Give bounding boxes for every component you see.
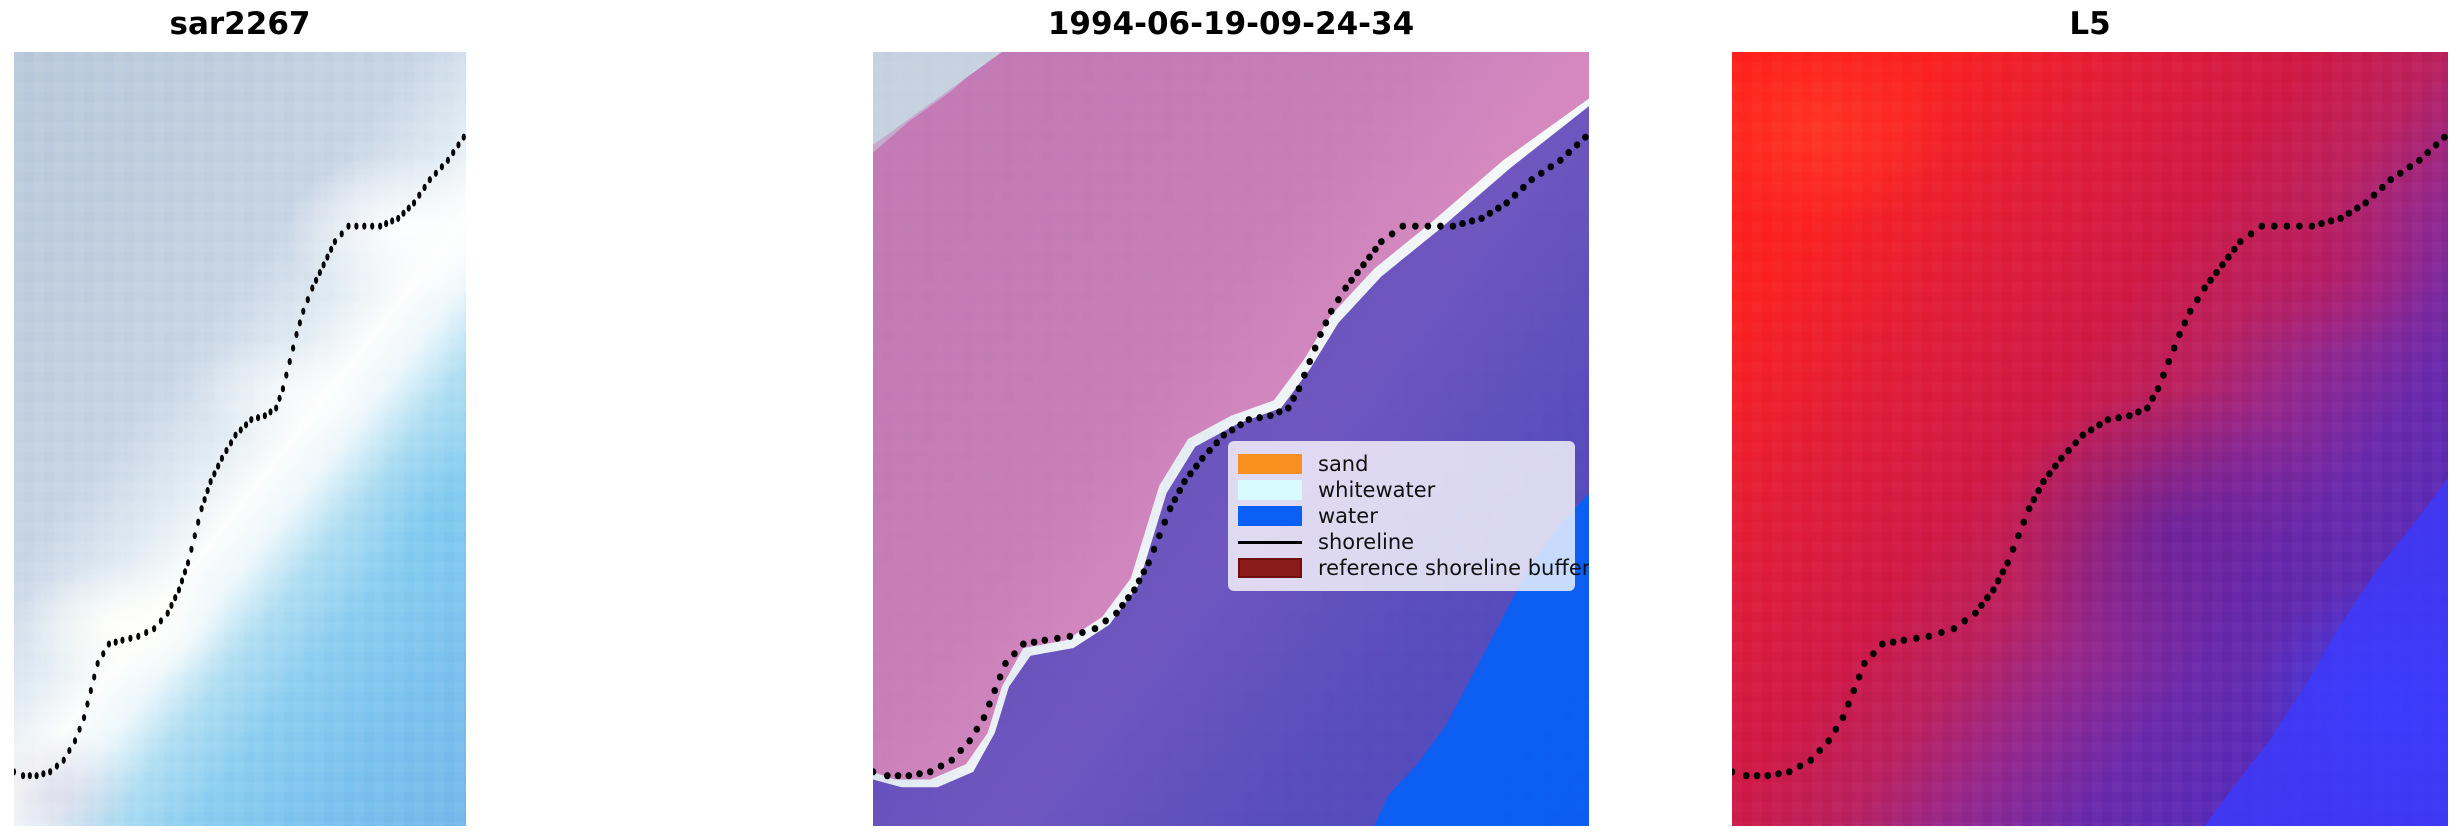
shoreline-dot [1450,223,1457,230]
shoreline-dot [128,635,132,642]
shoreline-dot [62,757,66,764]
shoreline-dot [2379,184,2386,191]
shoreline-dot [2397,170,2404,177]
shoreline-dot [2065,447,2072,454]
shoreline-dot [957,747,964,754]
shoreline-dot [2441,134,2448,141]
shoreline-dot [2259,223,2266,230]
shoreline-dot [1913,635,1920,642]
shoreline-dot [1879,641,1886,648]
shoreline-dot [1840,714,1847,721]
classified-panel[interactable]: sand whitewater water shoreline referenc… [873,52,1589,826]
shoreline-dot [229,439,233,446]
shoreline-dot [948,757,955,764]
shoreline-dot [462,134,466,141]
shoreline-dot [2105,416,2112,423]
shoreline-dot [1870,650,1877,657]
shoreline-dot [1323,319,1330,326]
shoreline-dot [997,673,1004,680]
shoreline-dot [2231,246,2238,253]
legend-label: reference shoreline buffer [1318,556,1589,580]
shoreline-dot [1850,687,1857,694]
shoreline-dot [28,772,32,779]
shoreline-dot [256,414,260,421]
shoreline-dot [2407,163,2414,170]
shoreline-dot [96,660,100,667]
shoreline-dot [2155,385,2162,392]
shoreline-dot [1995,577,2002,584]
shoreline-dot [1312,344,1319,351]
shoreline-dot [136,633,140,640]
shoreline-dot [2225,254,2232,261]
shoreline-dot [1246,416,1253,423]
shoreline-dot [1141,568,1148,575]
shoreline-dot [2160,372,2167,379]
shoreline-dot [1984,594,1991,601]
shoreline-dot [21,772,25,779]
shoreline-dot [1335,296,1342,303]
shoreline-dot [306,296,310,303]
shoreline-dot [2284,223,2291,230]
shoreline-dot [2020,519,2027,526]
shoreline-dot [298,319,302,326]
shoreline-dot [1151,546,1158,553]
shoreline-dot [2088,426,2095,433]
shoreline-dot [1125,594,1132,601]
shoreline-dot [1161,519,1168,526]
shoreline-dot [2176,331,2183,338]
shoreline-dot [2237,238,2244,245]
shoreline-dot [107,641,111,648]
shoreline-dot [1372,246,1379,253]
shoreline-dot [362,223,366,230]
shoreline-dot [2219,261,2226,268]
shoreline-dot [1825,737,1832,744]
shoreline-dot [428,176,432,183]
shoreline-dot [2387,176,2394,183]
shoreline-dot [220,455,224,462]
shoreline-dot [224,447,228,454]
shoreline-dot [2433,141,2440,148]
shoreline-dot [1816,747,1823,754]
shoreline-dot [378,223,382,230]
shoreline-dot [48,768,52,775]
shoreline-dot [1754,772,1761,779]
shoreline-dot [325,254,329,261]
shoreline-dot [981,714,988,721]
shoreline-dot [1926,633,1933,640]
shoreline-dot [1520,184,1527,191]
shoreline-dot [1495,205,1502,212]
shoreline-dot [193,532,197,539]
shoreline-dot [390,217,394,224]
shoreline-dot [203,496,207,503]
shoreline-dot [89,687,93,694]
legend-item-reference-buffer[interactable]: reference shoreline buffer [1238,555,1563,581]
shoreline-dot [1221,432,1228,439]
shoreline-dot [1328,308,1335,315]
shoreline-dot [1131,586,1138,593]
shoreline-dot [1181,478,1188,485]
shoreline-dot [249,416,253,423]
shoreline-dot [314,277,318,284]
shoreline-dot [200,505,204,512]
shoreline-dot [2035,487,2042,494]
panel-title-sar: sar2267 [14,4,466,44]
shoreline-dot [1301,372,1308,379]
shoreline-dot [354,223,358,230]
map-legend[interactable]: sand whitewater water shoreline referenc… [1228,441,1575,591]
shoreline-dot [1031,639,1038,646]
shoreline-dot [1296,385,1303,392]
shoreline-dot [1229,426,1236,433]
figure-root: sar2267 1994-06-19-09-24-34 L5 [0,0,2460,836]
shoreline-dot [301,308,305,315]
shoreline-dot [407,205,411,212]
shoreline-dot [67,747,71,754]
shoreline-dot [1557,157,1564,164]
shoreline-dot [1582,134,1589,141]
legend-label: whitewater [1318,478,1435,502]
shoreline-dot [82,714,86,721]
shoreline-dot [1360,261,1367,268]
shoreline-dot [1092,625,1099,632]
shoreline-dot [2052,463,2059,470]
shoreline-dot [396,215,400,222]
shoreline-dot [1317,331,1324,338]
shoreline-dot [1856,673,1863,680]
shoreline-dot [1366,254,1373,261]
shoreline-dot [1067,633,1074,640]
shoreline-dot [1113,610,1120,617]
whitewater-swatch-icon [1238,480,1302,500]
shoreline-dot [2126,412,2133,419]
shoreline-dot [216,463,220,470]
legend-item-shoreline[interactable]: shoreline [1238,529,1563,555]
shoreline-dot [1042,637,1049,644]
shoreline-dot [177,586,181,593]
shoreline-dot [2058,455,2065,462]
shoreline-dot [2194,296,2201,303]
shoreline-dot [1938,629,1945,636]
shoreline-dot [2201,285,2208,292]
shoreline-dot [1412,223,1419,230]
shoreline-dot [2040,478,2047,485]
shoreline-dot [440,163,444,170]
shoreline-dot [233,432,237,439]
shoreline-dot [2416,157,2423,164]
shoreline-dot [1267,412,1274,419]
shoreline-dot [1176,487,1183,494]
shoreline-dot [1565,149,1572,156]
shoreline-dot [2031,496,2038,503]
reference-buffer-swatch-icon [1238,558,1302,578]
shoreline-dot [446,157,450,164]
shoreline-dot [966,737,973,744]
shoreline-dot [1786,768,1793,775]
shoreline-dot [1861,660,1868,667]
shoreline-dot [318,269,322,276]
shoreline-dot [1199,455,1206,462]
shoreline-dot [209,478,213,485]
shoreline-dot [2096,421,2103,428]
legend-label: shoreline [1318,530,1414,554]
shoreline-dot [1145,559,1152,566]
shoreline-dot [101,650,105,657]
shoreline-dot [2346,210,2353,217]
shoreline-dot [92,673,96,680]
shoreline-dot [2015,532,2022,539]
shoreline-dot [1342,285,1349,292]
shoreline-dot [1961,617,1968,624]
shoreline-dot [2149,395,2156,402]
shoreline-dot [2026,505,2033,512]
shoreline-dot [2144,404,2151,411]
shoreline-dot [456,141,460,148]
shoreline-dot [1487,210,1494,217]
shoreline-dot [1548,163,1555,170]
shoreline-dot [1002,660,1009,667]
shoreline-dot [974,726,981,733]
shoreline-dot [1990,586,1997,593]
shoreline-dot [1290,395,1297,402]
shoreline-dot [451,149,455,156]
shoreline-dot [1574,141,1581,148]
l5-bright-water-region [2205,478,2448,826]
shoreline-dot [186,559,190,566]
shoreline-dot [1775,770,1782,777]
shoreline-dot [41,770,45,777]
legend-label: sand [1318,452,1368,476]
shoreline-dot [1765,772,1772,779]
shoreline-dot [173,594,177,601]
shoreline-dot [906,772,913,779]
shoreline-dot [346,223,350,230]
shoreline-dot [895,772,902,779]
shoreline-dot [991,687,998,694]
l5-panel[interactable] [1732,52,2448,826]
shoreline-dot [263,412,267,419]
shoreline-dot [329,246,333,253]
legend-item-whitewater[interactable]: whitewater [1238,477,1563,503]
shoreline-dot [159,617,163,624]
shoreline-dot [2248,230,2255,237]
shoreline-dot [1469,217,1476,224]
water-swatch-icon [1238,506,1302,526]
shoreline-dot [2424,149,2431,156]
shoreline-dot [1136,577,1143,584]
shoreline-dot [2328,217,2335,224]
shoreline-dot [412,199,416,206]
legend-label: water [1318,504,1378,528]
shoreline-dot [1503,199,1510,206]
shoreline-dot [2187,308,2194,315]
shoreline-dot [1348,277,1355,284]
shoreline-dot [1425,223,1432,230]
shoreline-dot [294,331,298,338]
shoreline-dot [1256,414,1263,421]
shoreline-dot [2171,344,2178,351]
shoreline-dot [77,726,81,733]
shoreline-dot [2213,269,2220,276]
shoreline-dot [333,238,337,245]
shoreline-dot [384,220,388,227]
shoreline-dot [2046,470,2053,477]
shoreline-dot [1020,641,1027,648]
shoreline-dot [277,395,281,402]
shoreline-dot [1276,408,1283,415]
shoreline-dot [1833,726,1840,733]
shoreline-dot [2165,358,2172,365]
shoreline-dot [1193,463,1200,470]
shoreline-dot [1011,650,1018,657]
shoreline-dot [1901,637,1908,644]
shoreline-dot [120,637,124,644]
shoreline-dot [281,385,285,392]
shoreline-dot [1237,421,1244,428]
shoreline-overlay-l5 [1732,52,2448,826]
shoreline-dot [2318,220,2325,227]
legend-item-sand[interactable]: sand [1238,451,1563,477]
shoreline-dot [1213,439,1220,446]
shoreline-dot [2337,215,2344,222]
shoreline-dot [340,230,344,237]
shoreline-dot [288,358,292,365]
shoreline-dot [1732,768,1735,775]
shoreline-dot [212,470,216,477]
shoreline-line-icon [1238,532,1302,552]
shoreline-dot [2010,546,2017,553]
shoreline-dot [239,426,243,433]
shoreline-dot [2080,432,2087,439]
shoreline-dot [180,577,184,584]
shoreline-dot [434,170,438,177]
shoreline-dot [206,487,210,494]
shoreline-dot [422,184,426,191]
shoreline-dot [1389,230,1396,237]
shoreline-dot [401,210,405,217]
shoreline-dot [884,772,891,779]
shoreline-dot [268,408,272,415]
shoreline-dot [2362,199,2369,206]
shoreline-dot [938,762,945,769]
shoreline-dot [1437,223,1444,230]
shoreline-dot [274,404,278,411]
shoreline-dot [1538,170,1545,177]
shoreline-dot [189,546,193,553]
shoreline-dot [1079,629,1086,636]
shoreline-dot [1978,602,1985,609]
shoreline-dot [1528,176,1535,183]
shoreline-dot [2115,414,2122,421]
shoreline-dot [1378,238,1385,245]
shoreline-dot [370,223,374,230]
shoreline-dot [927,768,934,775]
shoreline-dot [2000,568,2007,575]
class-mask-overlay [873,52,1589,826]
shoreline-dot-group [14,134,466,780]
shoreline-dot [244,421,248,428]
shoreline-dot [2354,205,2361,212]
shoreline-dot [85,701,89,708]
shoreline-dot [2309,223,2316,230]
shoreline-dot [2182,319,2189,326]
shoreline-dot [1306,358,1313,365]
shoreline-dot [1187,470,1194,477]
shoreline-overlay-sar [14,52,466,826]
shoreline-dot [1206,447,1213,454]
shoreline-dot [1478,215,1485,222]
shoreline-dot [1156,532,1163,539]
shoreline-dot [196,519,200,526]
shoreline-dot [1797,762,1804,769]
shoreline-dot [322,261,326,268]
shoreline-dot [291,344,295,351]
shoreline-dot [35,772,39,779]
shoreline-dot [1167,505,1174,512]
shoreline-dot [1400,223,1407,230]
shoreline-dot [2207,277,2214,284]
shoreline-dot [1054,635,1061,642]
shoreline-dot [310,285,314,292]
shoreline-dot [1285,404,1292,411]
shoreline-dot [73,737,77,744]
shoreline-dot [1172,496,1179,503]
shoreline-dot [2004,559,2011,566]
shoreline-dot [14,768,16,775]
shoreline-dot [1743,772,1750,779]
shoreline-dot [417,192,421,199]
shoreline-dot [1119,602,1126,609]
shoreline-dot [916,770,923,777]
shoreline-dot [1807,757,1814,764]
shoreline-dot [2072,439,2079,446]
shoreline-dot [1102,617,1109,624]
shoreline-dot [1845,701,1852,708]
panel-title-classified: 1994-06-19-09-24-34 [873,4,1589,44]
shoreline-dot [986,701,993,708]
shoreline-dot [284,372,288,379]
sar-panel[interactable] [14,52,466,826]
legend-item-water[interactable]: water [1238,503,1563,529]
shoreline-dot [169,602,173,609]
shoreline-dot [2135,408,2142,415]
shoreline-dot [1951,625,1958,632]
shoreline-dot [1972,610,1979,617]
shoreline-dot [114,639,118,646]
shoreline-dot [166,610,170,617]
panel-title-l5: L5 [1732,4,2448,44]
shoreline-dot [1512,192,1519,199]
shoreline-dot [1459,220,1466,227]
shoreline-dot [183,568,187,575]
shoreline-dot [1354,269,1361,276]
sand-swatch-icon [1238,454,1302,474]
shoreline-dot [1890,639,1897,646]
shoreline-dot [2271,223,2278,230]
shoreline-dot [152,625,156,632]
shoreline-dot [2371,192,2378,199]
shoreline-dot [144,629,148,636]
shoreline-dot [2296,223,2303,230]
shoreline-dot [55,762,59,769]
